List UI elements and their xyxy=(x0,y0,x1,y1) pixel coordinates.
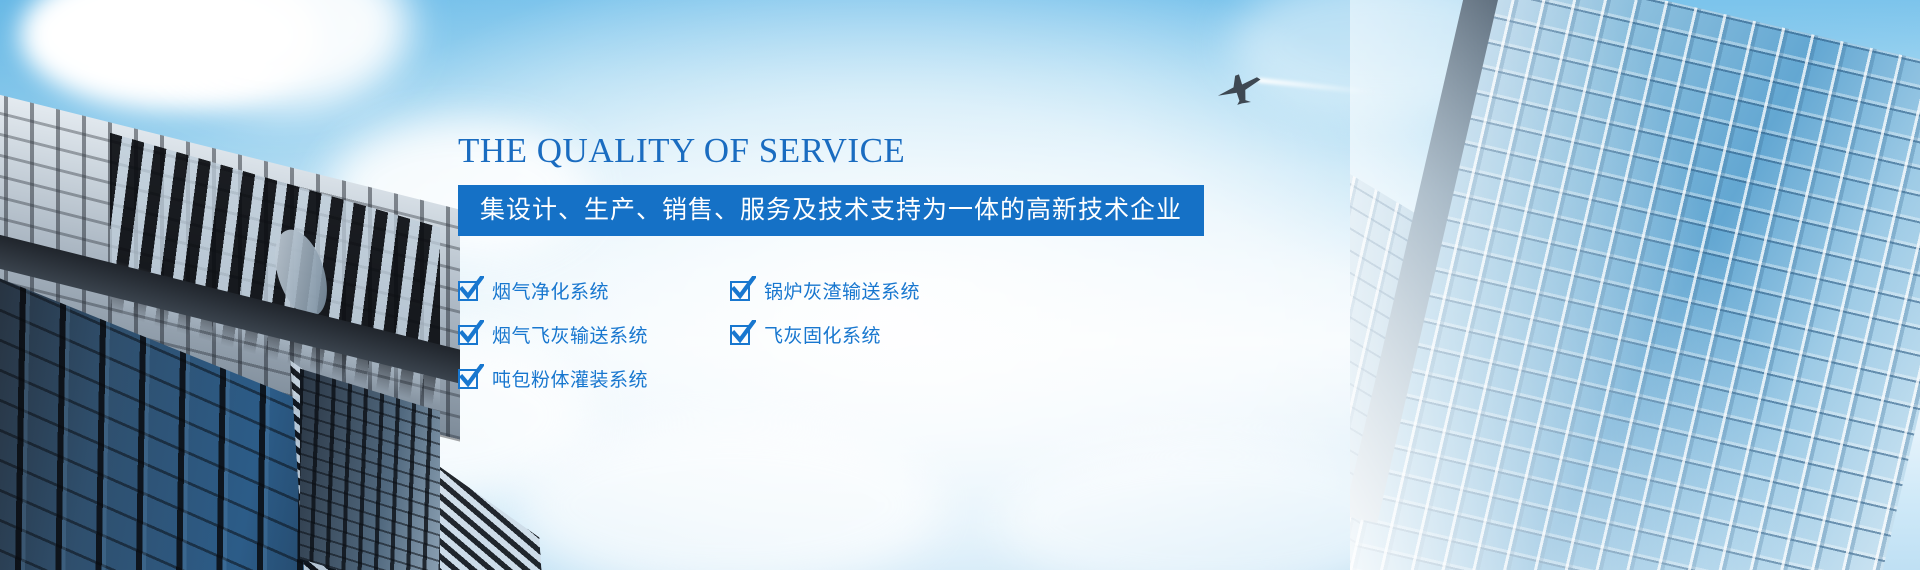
feature-item[interactable]: 锅炉灰渣输送系统 xyxy=(730,277,1002,304)
feature-item[interactable]: 烟气飞灰输送系统 xyxy=(458,321,730,348)
banner-subtitle-bar: 集设计、生产、销售、服务及技术支持为一体的高新技术企业 xyxy=(458,185,1204,236)
checkbox-checked-icon xyxy=(458,369,478,389)
checkbox-checked-icon xyxy=(730,281,750,301)
checkbox-checked-icon xyxy=(730,325,750,345)
feature-item[interactable]: 飞灰固化系统 xyxy=(730,321,1002,348)
feature-list: 烟气净化系统 锅炉灰渣输送系统 烟气飞灰输送系统 飞灰固化系统 xyxy=(458,269,1218,401)
feature-item[interactable]: 吨包粉体灌装系统 xyxy=(458,365,730,392)
feature-label: 烟气净化系统 xyxy=(492,277,609,304)
feature-label: 飞灰固化系统 xyxy=(764,321,881,348)
feature-item[interactable]: 烟气净化系统 xyxy=(458,277,730,304)
banner-eyebrow-title: THE QUALITY OF SERVICE xyxy=(458,132,1218,171)
hero-banner: THE QUALITY OF SERVICE 集设计、生产、销售、服务及技术支持… xyxy=(0,0,1920,570)
banner-text-block: THE QUALITY OF SERVICE 集设计、生产、销售、服务及技术支持… xyxy=(458,132,1218,401)
checkbox-checked-icon xyxy=(458,281,478,301)
feature-label: 烟气飞灰输送系统 xyxy=(492,321,648,348)
right-skyscraper-image xyxy=(1350,0,1920,570)
checkbox-checked-icon xyxy=(458,325,478,345)
feature-label: 吨包粉体灌装系统 xyxy=(492,365,648,392)
feature-label: 锅炉灰渣输送系统 xyxy=(764,277,920,304)
